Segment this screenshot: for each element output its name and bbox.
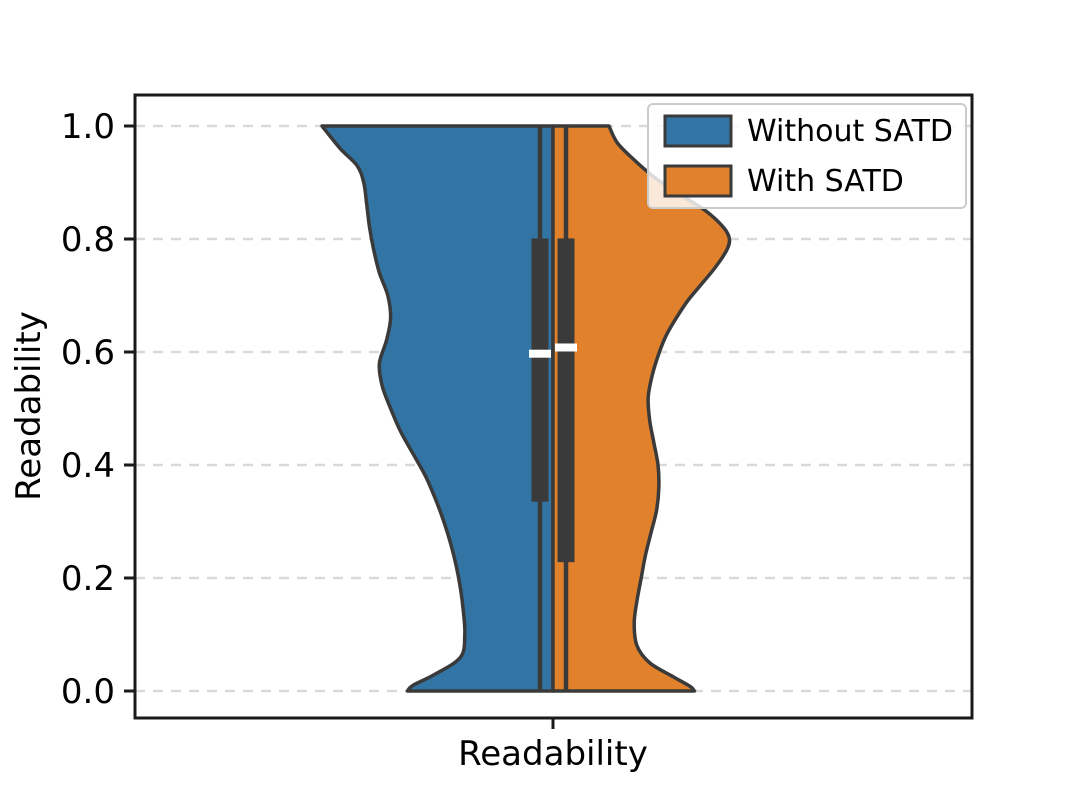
legend-label-without-satd: Without SATD (747, 114, 953, 149)
iqr-box-with-satd (558, 238, 575, 562)
iqr-box-without-satd (532, 238, 549, 501)
y-axis-title: Readability (9, 311, 49, 501)
median-marker-with-satd (555, 343, 577, 351)
median-marker-without-satd (529, 350, 551, 358)
y-tick-label: 0.4 (61, 446, 115, 486)
legend-swatch-with-satd[interactable] (665, 166, 731, 196)
legend-swatch-without-satd[interactable] (665, 116, 731, 146)
figure-canvas: 0.00.20.40.60.81.0 Readability Readabili… (0, 0, 1080, 810)
y-tick-label: 0.0 (61, 672, 115, 712)
violin-plot: 0.00.20.40.60.81.0 Readability Readabili… (0, 0, 1080, 810)
y-tick-label: 0.6 (61, 333, 115, 373)
x-axis-title: Readability (458, 734, 648, 774)
legend[interactable]: Without SATD With SATD (648, 104, 966, 208)
legend-label-with-satd: With SATD (747, 164, 904, 199)
y-tick-label: 0.2 (61, 559, 115, 599)
y-tick-label: 1.0 (61, 107, 115, 147)
y-tick-labels: 0.00.20.40.60.81.0 (61, 107, 115, 712)
y-tick-label: 0.8 (61, 220, 115, 260)
